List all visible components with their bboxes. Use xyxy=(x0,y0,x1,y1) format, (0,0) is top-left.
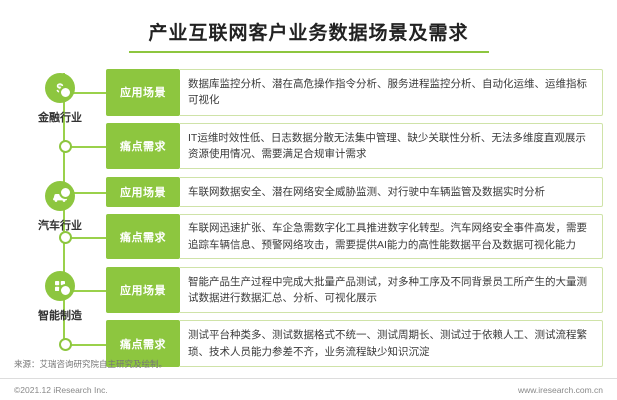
sector-automotive: 汽车行业 应用场景 车联网数据安全、潜在网络安全威胁监测、对行驶中车辆监管及数据… xyxy=(14,175,603,259)
row-automotive-pain: 痛点需求 车联网迅速扩张、车企急需数字化工具推进数字化转型。汽车网络安全事件高发… xyxy=(106,214,603,259)
sector-automotive-left: 汽车行业 xyxy=(14,175,106,233)
row-tag-pain: 痛点需求 xyxy=(106,123,180,170)
row-finance-pain: 痛点需求 IT运维时效性低、日志数据分散无法集中管理、缺少关联性分析、无法多维度… xyxy=(106,123,603,170)
sector-manufacturing: 智能制造 应用场景 智能产品生产过程中完成大批量产品测试，对多种工序及不同背景员… xyxy=(14,265,603,367)
footer-website[interactable]: www.iresearch.com.cn xyxy=(518,385,603,395)
row-tag-pain: 痛点需求 xyxy=(106,214,180,259)
sector-finance-label: 金融行业 xyxy=(38,109,82,125)
diagram-body: $ 金融行业 应用场景 数据库监控分析、潜在高危操作指令分析、服务进程监控分析、… xyxy=(14,67,603,357)
row-content-scene: 数据库监控分析、潜在高危操作指令分析、服务进程监控分析、自动化运维、运维指标可视… xyxy=(180,69,603,116)
sector-finance-rows: 应用场景 数据库监控分析、潜在高危操作指令分析、服务进程监控分析、自动化运维、运… xyxy=(106,67,603,169)
sector-manufacturing-rows: 应用场景 智能产品生产过程中完成大批量产品测试，对多种工序及不同背景员工所产生的… xyxy=(106,265,603,367)
row-content-pain: 车联网迅速扩张、车企急需数字化工具推进数字化转型。汽车网络安全事件高发，需要追踪… xyxy=(180,214,603,259)
node-dot-icon xyxy=(59,231,72,244)
row-manufacturing-scene: 应用场景 智能产品生产过程中完成大批量产品测试，对多种工序及不同背景员工所产生的… xyxy=(106,267,603,314)
row-content-scene: 车联网数据安全、潜在网络安全威胁监测、对行驶中车辆监管及数据实时分析 xyxy=(180,177,603,207)
sector-finance: $ 金融行业 应用场景 数据库监控分析、潜在高危操作指令分析、服务进程监控分析、… xyxy=(14,67,603,169)
footer-copyright: ©2021.12 iResearch Inc. xyxy=(14,385,108,395)
row-content-pain: IT运维时效性低、日志数据分散无法集中管理、缺少关联性分析、无法多维度直观展示资… xyxy=(180,123,603,170)
title-block: 产业互联网客户业务数据场景及需求 xyxy=(0,0,617,61)
sector-automotive-rows: 应用场景 车联网数据安全、潜在网络安全威胁监测、对行驶中车辆监管及数据实时分析 … xyxy=(106,175,603,259)
node-dot-icon xyxy=(59,338,72,351)
row-finance-scene: 应用场景 数据库监控分析、潜在高危操作指令分析、服务进程监控分析、自动化运维、运… xyxy=(106,69,603,116)
row-content-scene: 智能产品生产过程中完成大批量产品测试，对多种工序及不同背景员工所产生的大量测试数… xyxy=(180,267,603,314)
connector-line xyxy=(68,146,106,148)
row-tag-scene: 应用场景 xyxy=(106,69,180,116)
row-tag-scene: 应用场景 xyxy=(106,267,180,314)
row-automotive-scene: 应用场景 车联网数据安全、潜在网络安全威胁监测、对行驶中车辆监管及数据实时分析 xyxy=(106,177,603,207)
source-note: 来源：艾瑞咨询研究院自主研究及绘制。 xyxy=(14,358,167,370)
row-tag-scene: 应用场景 xyxy=(106,177,180,207)
footer-bar: ©2021.12 iResearch Inc. www.iresearch.co… xyxy=(0,378,617,400)
title-underline xyxy=(129,51,489,53)
sector-automotive-label: 汽车行业 xyxy=(38,217,82,233)
page-title: 产业互联网客户业务数据场景及需求 xyxy=(148,18,468,45)
row-manufacturing-pain: 痛点需求 测试平台种类多、测试数据格式不统一、测试周期长、测试过于依赖人工、测试… xyxy=(106,320,603,367)
row-content-pain: 测试平台种类多、测试数据格式不统一、测试周期长、测试过于依赖人工、测试流程繁琐、… xyxy=(180,320,603,367)
connector-line xyxy=(68,237,106,239)
sector-manufacturing-label: 智能制造 xyxy=(38,307,82,323)
connector-line xyxy=(68,344,106,346)
slide-page: 产业互联网客户业务数据场景及需求 $ 金融行业 应用场景 数据库监控分析、潜在高 xyxy=(0,0,617,400)
node-dot-icon xyxy=(59,140,72,153)
